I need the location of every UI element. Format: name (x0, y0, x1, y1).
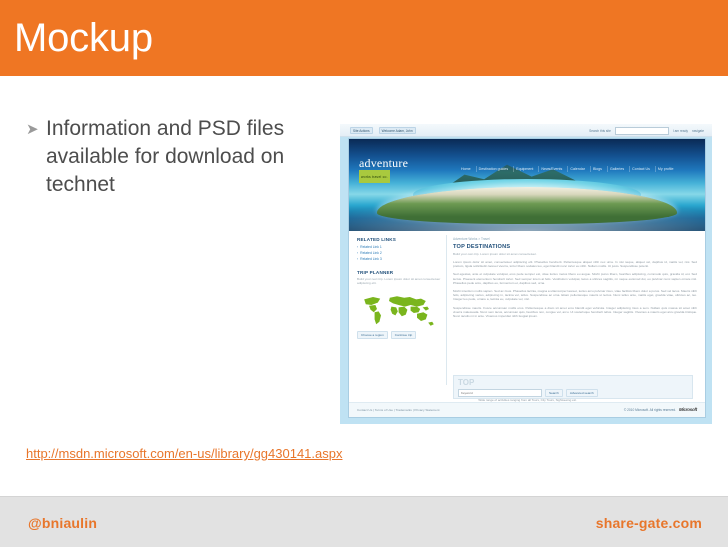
nav-item-contact-us[interactable]: Contact Us (629, 166, 652, 172)
top-activities-search-row: Search Advanced search (458, 389, 598, 397)
bullet-list: ➤ Information and PSD files available fo… (26, 115, 316, 199)
body-paragraph: Morbi interdum mollis sapien. Sed ac ris… (453, 289, 697, 302)
nav-item-calendar[interactable]: Calendar (567, 166, 587, 172)
hero-banner: adventure works travel co. Home Destinat… (349, 139, 705, 231)
search-input[interactable] (615, 127, 669, 135)
nav-item-home[interactable]: Home (459, 166, 473, 172)
continue-trip-button[interactable]: Continue trip (391, 331, 417, 339)
site-logo-tagline: works travel co. (359, 170, 390, 183)
body-paragraph: Lorem ipsum dolor sit amet, consectetuer… (453, 260, 697, 268)
title-band: Mockup (0, 0, 728, 76)
body-paragraph: Suspendisse mauris. Fusce accumsan molli… (453, 306, 697, 319)
nav-item-destination-guides[interactable]: Destination guides (476, 166, 511, 172)
right-column: Adventure Works > Travel TOP DESTINATION… (453, 237, 697, 322)
world-map-image[interactable] (357, 289, 437, 329)
nav-item-galleries[interactable]: Galleries (607, 166, 626, 172)
related-links-heading: RELATED LINKS (357, 237, 441, 242)
top-activities-number: TOP (458, 379, 474, 387)
bullet-text: Information and PSD files available for … (46, 115, 316, 199)
list-item: ➤ Information and PSD files available fo… (26, 115, 316, 199)
activities-search-input[interactable] (458, 389, 542, 397)
advanced-search-link[interactable]: Advanced search (566, 389, 598, 397)
map-button-row: Choose a region Continue trip (357, 331, 441, 339)
twitter-handle[interactable]: @bniaulin (28, 515, 97, 531)
choose-region-button[interactable]: Choose a region (357, 331, 388, 339)
microsoft-logo: Microsoft (679, 407, 697, 412)
slide: Mockup ➤ Information and PSD files avail… (0, 0, 728, 546)
chevron-bullet-icon: ➤ (26, 122, 46, 137)
related-link-3[interactable]: Related Link 3 (357, 256, 441, 262)
page-footer: Contact Us | Terms of Use | Trademarks |… (349, 402, 705, 417)
nav-item-blogs[interactable]: Blogs (590, 166, 604, 172)
site-logo-name: adventure (359, 156, 408, 170)
sharepoint-top-bar-right: Search this site I am ready navigate (589, 127, 704, 135)
page-body: RELATED LINKS Related Link 1 Related Lin… (349, 233, 705, 393)
mockup-page: adventure works travel co. Home Destinat… (348, 138, 706, 418)
nav-item-my-profile[interactable]: My profile (655, 166, 676, 172)
page-footer-links[interactable]: Contact Us | Terms of Use | Trademarks |… (357, 408, 439, 412)
nav-item-news-events[interactable]: News/Events (538, 166, 564, 172)
site-logo[interactable]: adventure works travel co. (359, 157, 408, 183)
msdn-url-link[interactable]: http://msdn.microsoft.com/en-us/library/… (26, 446, 342, 462)
sharepoint-top-bar: Site Actions Welcome Adam, John Search t… (340, 124, 712, 137)
welcome-user-menu[interactable]: Welcome Adam, John (379, 127, 416, 134)
top-activities-box: TOP ACTIVITIES Wide range of activities … (453, 375, 693, 399)
column-divider (446, 235, 447, 385)
top-destinations-heading: TOP DESTINATIONS (453, 244, 697, 250)
navigate-link[interactable]: navigate (692, 129, 704, 133)
copyright-text: © 2010 Microsoft. All rights reserved. (624, 408, 676, 412)
top-destinations-subheading: Build your own trip. Lorem ipsum dolor s… (453, 252, 697, 256)
search-label: Search this site (589, 129, 611, 133)
mockup-screenshot: Site Actions Welcome Adam, John Search t… (340, 124, 712, 424)
breadcrumb: Adventure Works > Travel (453, 237, 697, 241)
site-actions-menu[interactable]: Site Actions (350, 127, 373, 134)
activities-search-button[interactable]: Search (545, 389, 563, 397)
page-title: Mockup (14, 15, 153, 61)
nav-item-equipment[interactable]: Equipment (513, 166, 535, 172)
page-footer-right: © 2010 Microsoft. All rights reserved. M… (624, 407, 697, 412)
help-link[interactable]: I am ready (673, 129, 688, 133)
left-column: RELATED LINKS Related Link 1 Related Lin… (357, 237, 441, 339)
sharepoint-top-bar-left: Site Actions Welcome Adam, John (350, 127, 416, 134)
body-paragraph: Sed egestas, ante et vulputate volutpat,… (453, 272, 697, 285)
share-gate-site[interactable]: share-gate.com (596, 515, 702, 531)
trip-planner-subtext: Build your next trip. Lorem ipsum dolor … (357, 277, 441, 285)
trip-planner-heading: TRIP PLANNER (357, 270, 441, 275)
main-navigation: Home Destination guides Equipment News/E… (459, 166, 675, 172)
